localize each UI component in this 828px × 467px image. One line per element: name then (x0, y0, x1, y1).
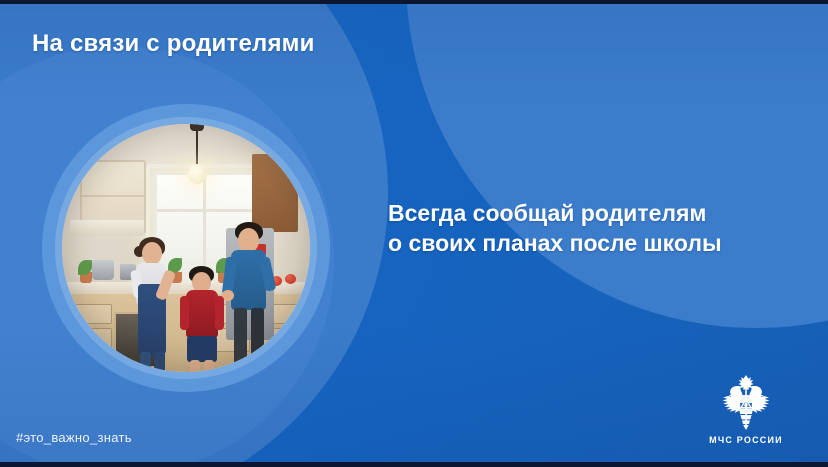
bottom-edge-bar (0, 462, 828, 467)
pendant-lamp-bulb (188, 164, 206, 184)
main-message: Всегда сообщай родителям о своих планах … (388, 198, 788, 259)
mother-leg-left (140, 352, 151, 372)
range-hood (70, 220, 144, 236)
mchs-logo-caption: МЧС РОССИИ (690, 435, 802, 445)
tomato (285, 274, 296, 284)
boy-arm-right (215, 296, 224, 330)
main-message-line-2: о своих планах после школы (388, 228, 788, 258)
kitchen-illustration (62, 124, 310, 372)
boy-leg-left (190, 360, 200, 372)
main-message-line-1: Всегда сообщай родителям (388, 198, 788, 228)
slide-root: На связи с родителями (0, 0, 828, 467)
drawer (70, 328, 112, 352)
pendant-lamp-cord (196, 124, 198, 166)
mother-leg-right (154, 352, 165, 372)
mchs-logo: МЧС РОССИИ (690, 374, 802, 445)
photo-circle-outer-ring (42, 104, 330, 392)
drawer (70, 354, 112, 372)
page-title: На связи с родителями (32, 30, 315, 58)
double-headed-eagle-icon (716, 374, 776, 432)
upper-cabinet-right (252, 154, 298, 232)
mother-head (142, 242, 162, 265)
drawer (70, 304, 112, 324)
family-kitchen-photo (62, 124, 310, 372)
hashtag-label: #это_важно_знать (16, 430, 132, 445)
father-leg-left (234, 308, 247, 372)
father-leg-right (251, 308, 264, 372)
boy-torso (186, 290, 218, 338)
boy-arm-left (180, 296, 189, 330)
cooking-pot (92, 260, 114, 280)
boy-shorts (187, 336, 217, 362)
boy-leg-right (204, 360, 214, 372)
top-edge-bar (0, 0, 828, 4)
